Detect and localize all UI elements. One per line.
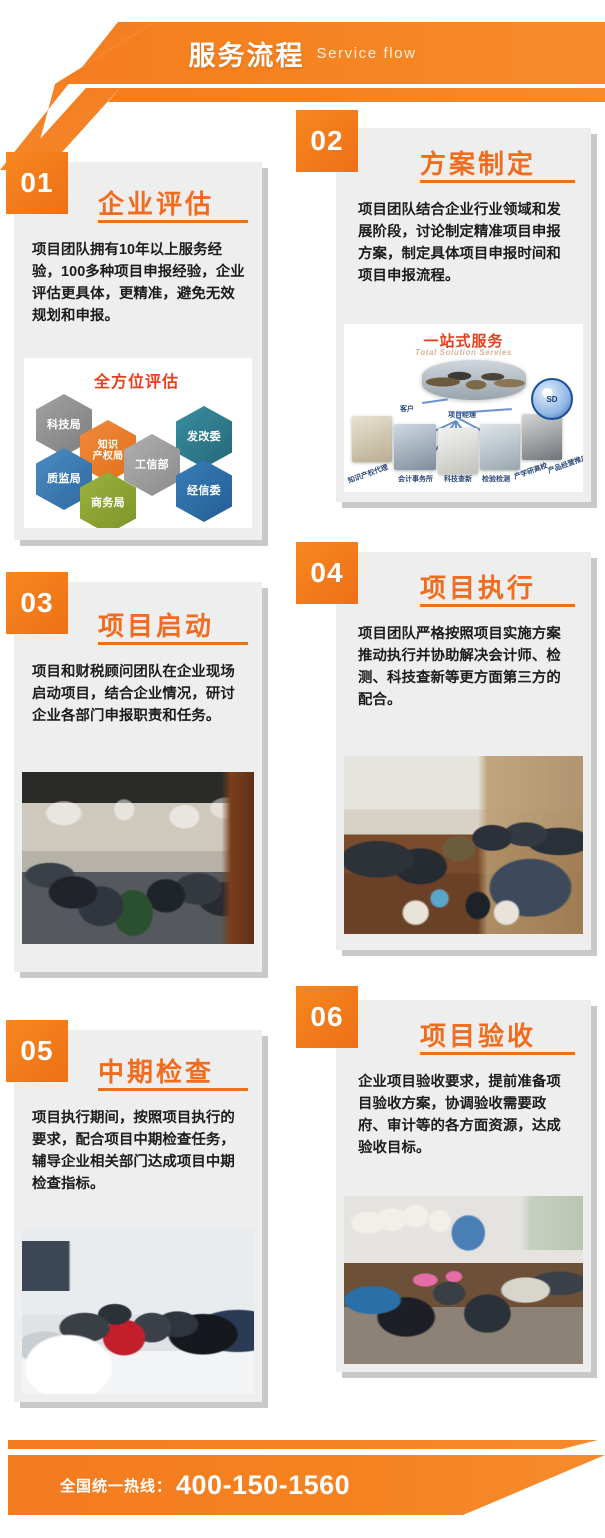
header-title-cn: 服务流程 [188,34,304,73]
step-badge-01: 01 [6,152,68,214]
hexagon-chart: 全方位评估 科技局 知识产权局 发改委 质监局 工信部 商务局 经信委 [24,358,252,528]
oss-arrow-6 [456,408,512,414]
step-card-03[interactable]: 项目启动 项目和财税顾问团队在企业现场启动项目，结合企业情况，研讨企业各部门申报… [14,582,262,972]
oss-branch-label-4: 检验检测 [482,474,510,484]
hexagon-chart-title: 全方位评估 [94,368,179,392]
step-title-rule-04 [420,604,575,607]
footer-accent-line [8,1440,598,1449]
step-card-06[interactable]: 项目验收 企业项目验收要求，提前准备项目验收方案，协调验收需要政府、审计等的各方… [336,1000,591,1372]
step-photo-06 [344,1196,583,1364]
step-title-06: 项目验收 [420,1016,536,1053]
step-title-04: 项目执行 [420,568,536,605]
step-badge-05: 05 [6,1020,68,1082]
step-card-02[interactable]: 方案制定 项目团队结合企业行业领域和发展阶段，讨论制定精准项目申报方案，制定具体… [336,128,591,502]
oss-subtitle: Total Solution Servies [344,348,583,357]
header-text-group: 服务流程 Service flow [0,22,605,84]
oss-thumb-ip [352,416,392,462]
step-badge-03: 03 [6,572,68,634]
oss-arrow-client [422,398,448,404]
footer-hotline-number[interactable]: 400-150-1560 [176,1470,350,1501]
step-title-rule-05 [98,1088,248,1091]
step-title-03: 项目启动 [98,606,214,643]
step-photo-05 [22,1228,254,1394]
step-card-05[interactable]: 中期检查 项目执行期间，按照项目执行的要求，配合项目中期检查任务，辅导企业相关部… [14,1030,262,1402]
oss-thumb-search [438,428,478,474]
one-stop-service-diagram: 一站式服务 Total Solution Servies 客户 项目经理 SD … [344,324,583,492]
step-title-rule-01 [98,220,248,223]
hexagon-node-jingxin-wei: 经信委 [176,460,232,522]
infographic-page: 服务流程 Service flow 企业评估 项目团队拥有10年以上服务经验，1… [0,0,605,1538]
header-title-en: Service flow [316,45,416,62]
footer-content: 全国统一热线： 400-150-1560 [8,1455,605,1515]
step-badge-04: 04 [296,542,358,604]
oss-branch-label-3: 科技查新 [444,474,472,484]
step-body-04: 项目团队严格按照项目实施方案推动执行并协助解决会计师、检测、科技查新等更方面第三… [358,624,574,712]
step-photo-04 [344,756,583,934]
hexagon-node-fagai-wei: 发改委 [176,406,232,468]
step-title-05: 中期检查 [98,1052,214,1089]
step-photo-03 [22,772,254,944]
step-badge-06: 06 [296,986,358,1048]
step-card-04[interactable]: 项目执行 项目团队严格按照项目实施方案推动执行并协助解决会计师、检测、科技查新等… [336,552,591,950]
footer-hotline-label: 全国统一热线： [60,1475,172,1496]
oss-center-photo [422,360,526,400]
oss-branch-label-2: 会计事务所 [398,474,433,484]
step-title-01: 企业评估 [98,184,214,221]
step-body-06: 企业项目验收要求，提前准备项目验收方案，协调验收需要政府、审计等的各方面资源，达… [358,1072,574,1160]
oss-certification-seal: SD [531,378,573,420]
oss-thumb-inspection [480,424,520,470]
oss-client-label: 客户 [400,404,414,414]
step-title-rule-02 [420,180,575,183]
step-body-01: 项目团队拥有10年以上服务经验，100多种项目申报经验，企业评估更具体，更精准，… [32,240,246,328]
step-title-02: 方案制定 [420,144,536,181]
step-title-rule-03 [98,642,248,645]
step-body-03: 项目和财税顾问团队在企业现场启动项目，结合企业情况，研讨企业各部门申报职责和任务… [32,662,246,728]
step-body-02: 项目团队结合企业行业领域和发展阶段，讨论制定精准项目申报方案，制定具体项目申报时… [358,200,574,288]
step-badge-02: 02 [296,110,358,172]
step-title-rule-06 [420,1052,575,1055]
oss-thumb-university [522,414,562,460]
step-body-05: 项目执行期间，按照项目执行的要求，配合项目中期检查任务，辅导企业相关部门达成项目… [32,1108,246,1196]
oss-thumb-accounting [394,424,436,470]
oss-branch-label-1: 知识产权代理 [347,462,390,486]
step-card-01[interactable]: 企业评估 项目团队拥有10年以上服务经验，100多种项目申报经验，企业评估更具体… [14,162,262,540]
